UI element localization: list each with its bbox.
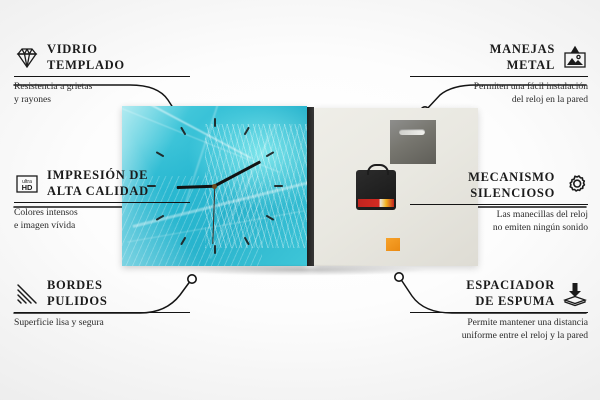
divider <box>410 204 588 205</box>
product-shadow <box>126 262 476 278</box>
ultra-hd-icon: ultra HD <box>14 171 40 197</box>
feature-title: VIDRIO TEMPLADO <box>47 42 125 73</box>
feature-metal-hooks: MANEJAS METAL Permiten una fácil instala… <box>410 42 588 107</box>
feature-title: BORDES PULIDOS <box>47 278 107 309</box>
svg-text:HD: HD <box>22 183 33 192</box>
gear-icon <box>562 173 588 199</box>
divider <box>14 312 190 313</box>
hour-tick <box>265 151 274 157</box>
hour-tick <box>155 151 164 157</box>
second-hand <box>212 186 215 244</box>
movement-hook <box>367 164 389 175</box>
hour-tick <box>180 127 186 136</box>
feature-foam-spacer: ESPACIADOR DE ESPUMA Permite mantener un… <box>410 278 588 343</box>
diamond-icon <box>14 45 40 71</box>
feature-hd-print: ultra HD IMPRESIÓN DE ALTA CALIDAD Color… <box>14 168 190 233</box>
foam-spacer-pad <box>386 238 400 251</box>
arrow-down-pad-icon <box>562 281 588 307</box>
diagonal-lines-icon <box>14 281 40 307</box>
feature-description: Resistencia a grietas y rayones <box>14 81 190 107</box>
hour-tick <box>243 237 249 246</box>
quartz-movement-box <box>356 170 396 210</box>
minute-hand <box>214 160 261 187</box>
feature-tempered-glass: VIDRIO TEMPLADO Resistencia a grietas y … <box>14 42 190 107</box>
feature-title: MANEJAS METAL <box>490 42 555 73</box>
hour-tick <box>214 245 216 254</box>
divider <box>14 76 190 77</box>
hand-center-cap <box>212 184 217 189</box>
infographic-canvas: VIDRIO TEMPLADO Resistencia a grietas y … <box>0 0 600 400</box>
feature-description: Permiten una fácil instalación del reloj… <box>410 81 588 107</box>
feature-title: MECANISMO SILENCIOSO <box>468 170 555 201</box>
divider <box>410 312 588 313</box>
hanger-keyhole-slot <box>399 129 425 135</box>
hour-tick <box>180 237 186 246</box>
feature-silent-mechanism: MECANISMO SILENCIOSO Las manecillas del … <box>410 170 588 235</box>
feature-description: Las manecillas del reloj no emiten ningú… <box>410 209 588 235</box>
metal-hanger-plate <box>390 120 436 164</box>
feature-title: IMPRESIÓN DE ALTA CALIDAD <box>47 168 149 199</box>
feature-description: Colores intensos e imagen vívida <box>14 207 190 233</box>
divider <box>14 202 190 203</box>
framed-picture-icon <box>562 45 588 71</box>
feature-title: ESPACIADOR DE ESPUMA <box>466 278 555 309</box>
hour-tick <box>274 185 283 187</box>
feature-description: Superficie lisa y segura <box>14 317 190 330</box>
divider <box>410 76 588 77</box>
glass-edge <box>307 107 314 266</box>
hour-tick <box>265 215 274 221</box>
hour-tick <box>243 127 249 136</box>
hour-tick <box>214 118 216 127</box>
movement-label <box>358 199 394 207</box>
feature-description: Permite mantener una distancia uniforme … <box>410 317 588 343</box>
feature-polished-edges: BORDES PULIDOS Superficie lisa y segura <box>14 278 190 330</box>
